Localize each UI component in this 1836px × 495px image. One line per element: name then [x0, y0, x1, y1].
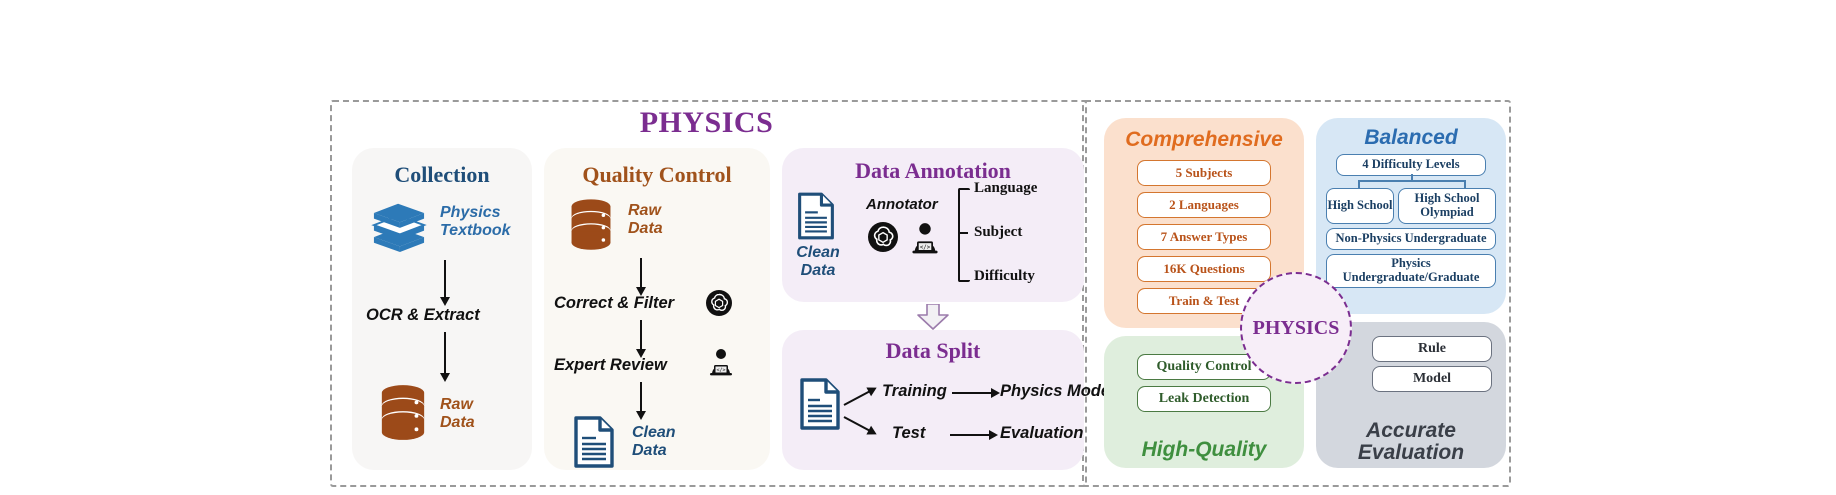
annotation-category-language: Language	[974, 180, 1037, 197]
collection-step-label: OCR & Extract	[366, 306, 480, 325]
openai-logo-icon	[706, 290, 732, 321]
pill-non-physics-undergraduate[interactable]: Non-Physics Undergraduate	[1326, 228, 1496, 250]
collection-title: Collection	[352, 162, 532, 188]
human-annotator-icon: </>	[708, 348, 734, 381]
document-icon	[572, 416, 616, 473]
database-icon	[378, 384, 428, 442]
books-icon	[366, 200, 432, 252]
arrow-to-expert-review	[640, 320, 642, 350]
flow-down-arrow-icon	[916, 304, 950, 330]
split-branch-test: Test	[892, 424, 925, 443]
arrow-to-test	[844, 416, 871, 432]
accurate-evaluation-heading: AccurateEvaluation	[1316, 420, 1506, 464]
pill-5-subjects[interactable]: 5 Subjects	[1137, 160, 1271, 186]
svg-text:</>: </>	[920, 245, 931, 251]
document-icon	[798, 378, 842, 435]
quality-step-expert-review: Expert Review	[554, 356, 667, 375]
tree-bar	[1358, 180, 1466, 182]
pill-2-languages[interactable]: 2 Languages	[1137, 192, 1271, 218]
arrow-to-correct-filter	[640, 258, 642, 288]
input-line-1: Raw	[628, 202, 661, 219]
pill-rule[interactable]: Rule	[1372, 336, 1492, 362]
bracket-tick-middle	[958, 232, 968, 234]
arrow-to-ocr	[444, 260, 446, 298]
annotation-bracket	[958, 188, 970, 282]
annotation-category-subject: Subject	[974, 224, 1022, 241]
ann-clean-line-2: Data	[801, 262, 836, 279]
pill-high-school-olympiad[interactable]: High School Olympiad	[1398, 188, 1496, 224]
pill-physics-undergraduate-graduate[interactable]: Physics Undergraduate/Graduate	[1326, 254, 1496, 288]
data-annotation-title: Data Annotation	[782, 158, 1084, 184]
arrow-to-training	[844, 390, 871, 406]
pill-7-answer-types[interactable]: 7 Answer Types	[1137, 224, 1271, 250]
accurate-line-1: Accurate	[1366, 419, 1456, 442]
high-quality-heading: High-Quality	[1104, 438, 1304, 462]
human-annotator-icon: </>	[910, 222, 940, 259]
annotation-category-difficulty: Difficulty	[974, 268, 1035, 285]
balanced-heading: Balanced	[1316, 126, 1506, 150]
document-icon	[796, 192, 836, 245]
clean-line-1: Clean	[632, 424, 676, 441]
arrow-to-rawdata	[444, 332, 446, 374]
card-balanced: Balanced 4 Difficulty Levels High School…	[1316, 118, 1506, 314]
panel-data-split: Data Split Training Physics Model Test E…	[782, 330, 1084, 470]
source-line-1: Physics	[440, 204, 500, 221]
pill-high-school[interactable]: High School	[1326, 188, 1394, 224]
collection-output-label: RawData	[440, 396, 475, 433]
openai-logo-icon	[868, 222, 898, 257]
annotator-label: Annotator	[866, 196, 938, 213]
panel-data-annotation: Data Annotation CleanData Annotator	[782, 148, 1084, 302]
svg-text:</>: </>	[716, 368, 725, 374]
annotation-input-label: CleanData	[790, 244, 846, 281]
quality-input-label: RawData	[628, 202, 663, 239]
ann-clean-line-1: Clean	[796, 244, 840, 261]
panel-quality-control: Quality Control RawData Correct & Filter	[544, 148, 770, 470]
page-title: PHYSICS	[330, 106, 1083, 140]
clean-line-2: Data	[632, 442, 667, 459]
arrow-to-clean-data	[640, 382, 642, 412]
split-branch-training: Training	[882, 382, 947, 401]
center-physics-bubble: PHYSICS	[1240, 272, 1352, 384]
split-target-evaluation: Evaluation	[1000, 424, 1083, 443]
pill-16k-questions[interactable]: 16K Questions	[1137, 256, 1271, 282]
input-line-2: Data	[628, 220, 663, 237]
output-line-1: Raw	[440, 396, 473, 413]
arrow-test-to-evaluation	[950, 434, 990, 436]
data-split-title: Data Split	[782, 338, 1084, 364]
pill-leak-detection[interactable]: Leak Detection	[1137, 386, 1271, 412]
split-target-physics-model: Physics Model	[1000, 382, 1115, 401]
collection-source-label: PhysicsTextbook	[440, 204, 511, 241]
database-icon	[568, 198, 614, 252]
quality-control-title: Quality Control	[544, 162, 770, 188]
diagram-canvas: PHYSICS Collection PhysicsTextb	[0, 0, 1836, 495]
arrow-training-to-model	[952, 392, 992, 394]
panel-collection: Collection PhysicsTextbook	[352, 148, 532, 470]
accurate-line-2: Evaluation	[1358, 441, 1464, 464]
pill-model[interactable]: Model	[1372, 366, 1492, 392]
pill-4-difficulty-levels[interactable]: 4 Difficulty Levels	[1336, 154, 1486, 176]
quality-output-label: CleanData	[632, 424, 676, 461]
comprehensive-heading: Comprehensive	[1104, 128, 1304, 152]
source-line-2: Textbook	[440, 222, 511, 239]
quality-step-correct-filter: Correct & Filter	[554, 294, 674, 313]
output-line-2: Data	[440, 414, 475, 431]
